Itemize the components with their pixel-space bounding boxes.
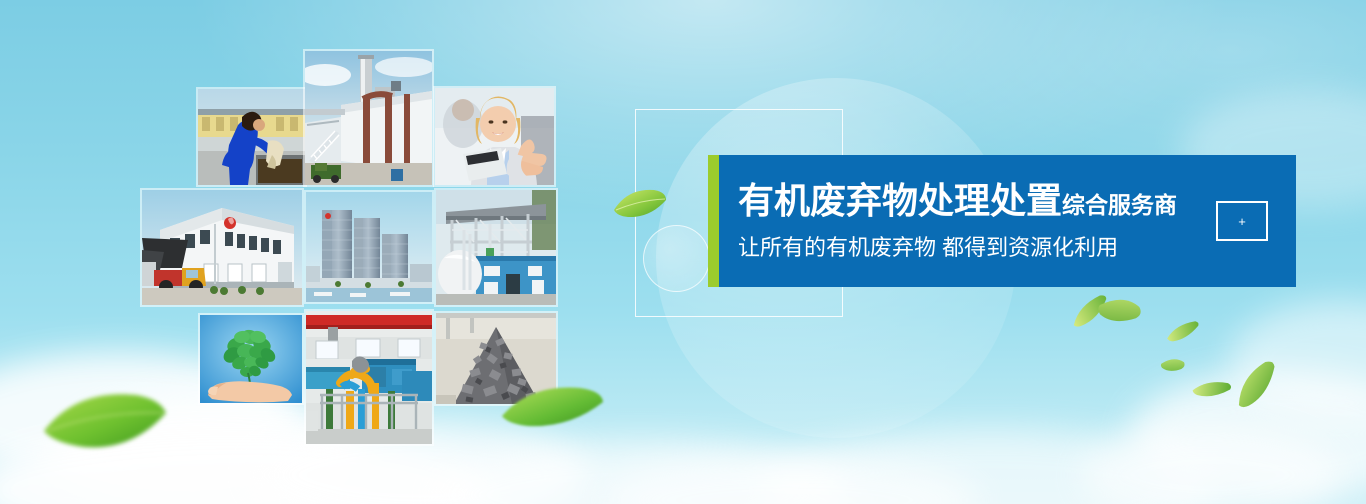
photo-businesswoman-thumbs-up	[435, 88, 554, 185]
leaf-decoration-float-5	[1191, 376, 1233, 401]
photo-hand-holding-leaf-heart	[200, 315, 302, 403]
leaf-decoration-float-1	[1065, 291, 1114, 331]
hero-banner: 有机废弃物处理处置 综合服务商 让所有的有机废弃物 都得到资源化利用 +	[0, 0, 1366, 504]
leaf-decoration-large	[40, 385, 170, 455]
leaf-decoration-float-3	[1164, 318, 1203, 343]
plus-more-button[interactable]: +	[1216, 201, 1268, 241]
headline-subtitle: 让所有的有机废弃物 都得到资源化利用	[738, 235, 1177, 261]
photo-worker-feeding-material	[198, 89, 305, 185]
leaf-decoration-float-4	[1158, 350, 1188, 379]
headline-banner: 有机废弃物处理处置 综合服务商 让所有的有机废弃物 都得到资源化利用 +	[708, 155, 1296, 287]
photo-office-towers	[306, 192, 432, 302]
headline-title-suffix: 综合服务商	[1062, 185, 1177, 225]
leaf-decoration-frame	[612, 186, 668, 220]
small-circle-decoration	[643, 225, 710, 292]
photo-factory-building-truck	[142, 190, 302, 305]
leaf-decoration-float-2	[1092, 283, 1147, 338]
photo-processing-machinery	[306, 311, 432, 444]
photo-gray-waste-pile	[436, 313, 556, 404]
headline-title-main: 有机废弃物处理处置	[738, 181, 1062, 221]
photo-industrial-plant-stack	[305, 51, 432, 185]
headline-title: 有机废弃物处理处置 综合服务商	[738, 181, 1177, 225]
headline-accent-bar	[708, 155, 719, 287]
photo-blue-process-plant	[436, 190, 556, 305]
leaf-decoration-float-6	[1224, 355, 1288, 413]
headline-text-group: 有机废弃物处理处置 综合服务商 让所有的有机废弃物 都得到资源化利用	[738, 155, 1177, 287]
